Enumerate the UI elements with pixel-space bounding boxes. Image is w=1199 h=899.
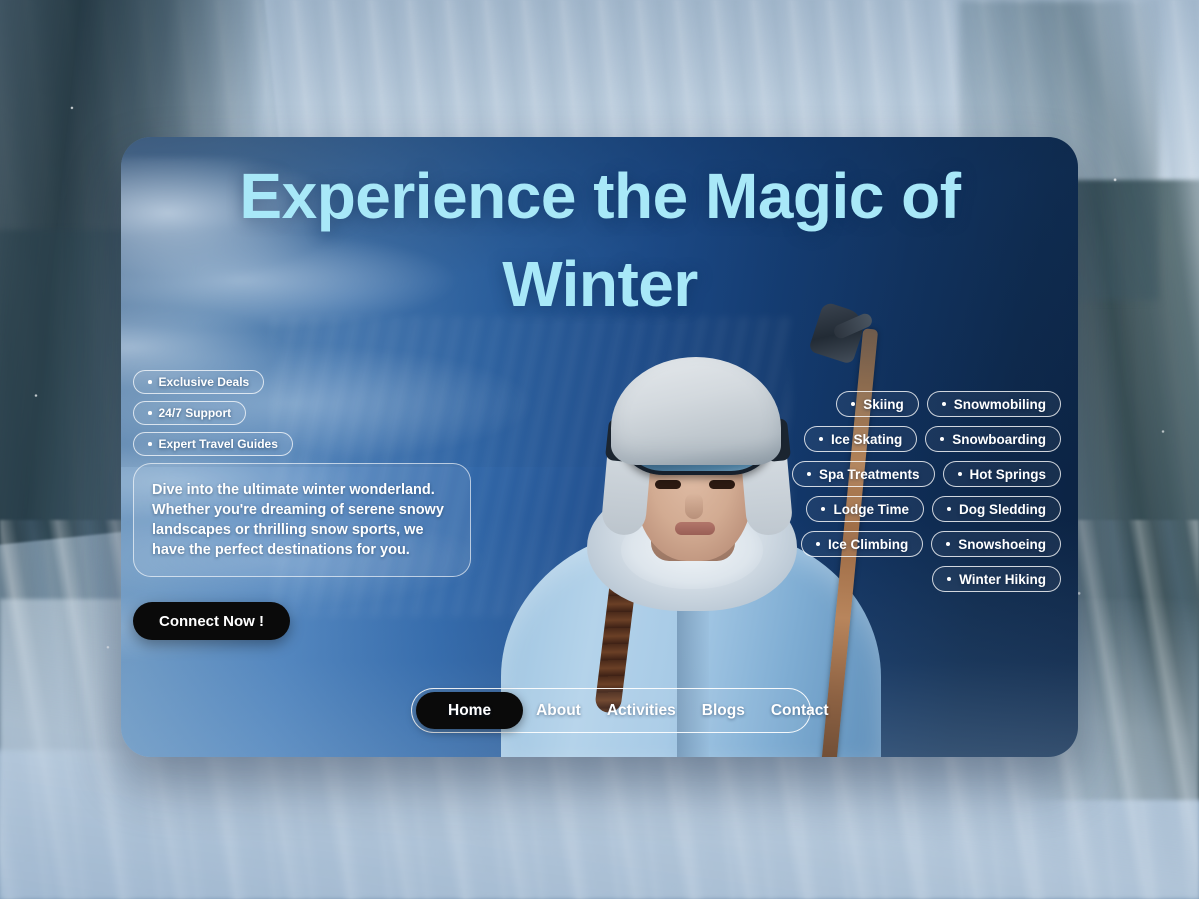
activity-chip-label: Skiing [863, 397, 904, 412]
activity-chip-label: Snowmobiling [954, 397, 1046, 412]
model-eye-left [655, 480, 681, 489]
activity-chip-label: Snowboarding [952, 432, 1046, 447]
bullet-dot-icon [148, 411, 152, 415]
activity-chip-spa-treatments[interactable]: Spa Treatments [792, 461, 935, 487]
feature-badge-list: Exclusive Deals 24/7 Support Expert Trav… [133, 370, 293, 456]
feature-badge-label: Expert Travel Guides [159, 437, 278, 451]
nav-item-blogs[interactable]: Blogs [689, 692, 758, 729]
bullet-dot-icon [821, 507, 825, 511]
nav-item-home[interactable]: Home [416, 692, 523, 729]
feature-badge-exclusive-deals[interactable]: Exclusive Deals [133, 370, 264, 394]
model-eye-right [709, 480, 735, 489]
activity-chip-label: Lodge Time [833, 502, 909, 517]
bullet-dot-icon [148, 380, 152, 384]
bullet-dot-icon [940, 437, 944, 441]
model-nose [685, 493, 703, 519]
model-lips [675, 522, 715, 535]
activity-chip-hot-springs[interactable]: Hot Springs [943, 461, 1062, 487]
bullet-dot-icon [946, 542, 950, 546]
activity-chip-label: Dog Sledding [959, 502, 1046, 517]
hero-description-text: Dive into the ultimate winter wonderland… [152, 482, 444, 558]
feature-badge-label: 24/7 Support [159, 406, 232, 420]
activity-chip-ice-climbing[interactable]: Ice Climbing [801, 531, 923, 557]
activity-chip-lodge-time[interactable]: Lodge Time [806, 496, 924, 522]
feature-badge-label: Exclusive Deals [159, 375, 250, 389]
activity-chip-label: Spa Treatments [819, 467, 920, 482]
feature-badge-expert-travel-guides[interactable]: Expert Travel Guides [133, 432, 293, 456]
hero-description-card: Dive into the ultimate winter wonderland… [133, 463, 471, 577]
activity-chip-winter-hiking[interactable]: Winter Hiking [932, 566, 1061, 592]
activity-chip-label: Ice Climbing [828, 537, 908, 552]
activity-chip-list: Skiing Snowmobiling Ice Skating Snowboar… [761, 391, 1061, 592]
bullet-dot-icon [947, 577, 951, 581]
bullet-dot-icon [148, 442, 152, 446]
bullet-dot-icon [958, 472, 962, 476]
activity-chip-snowboarding[interactable]: Snowboarding [925, 426, 1061, 452]
bullet-dot-icon [807, 472, 811, 476]
activity-chip-label: Hot Springs [970, 467, 1047, 482]
activity-chip-dog-sledding[interactable]: Dog Sledding [932, 496, 1061, 522]
feature-badge-support[interactable]: 24/7 Support [133, 401, 246, 425]
nav-item-contact[interactable]: Contact [758, 692, 842, 729]
activity-chip-snowmobiling[interactable]: Snowmobiling [927, 391, 1061, 417]
activity-chip-label: Snowshoeing [958, 537, 1046, 552]
bullet-dot-icon [947, 507, 951, 511]
activity-chip-ice-skating[interactable]: Ice Skating [804, 426, 917, 452]
connect-now-button[interactable]: Connect Now ! [133, 602, 290, 640]
bullet-dot-icon [851, 402, 855, 406]
bullet-dot-icon [942, 402, 946, 406]
hero-card: Experience the Magic of Winter Exclusive… [121, 137, 1078, 757]
activity-chip-skiing[interactable]: Skiing [836, 391, 919, 417]
nav-item-about[interactable]: About [523, 692, 594, 729]
activity-chip-snowshoeing[interactable]: Snowshoeing [931, 531, 1061, 557]
main-navigation: Home About Activities Blogs Contact [411, 688, 811, 733]
page-title: Experience the Magic of Winter [181, 152, 1019, 328]
model-beanie [611, 357, 781, 465]
bullet-dot-icon [819, 437, 823, 441]
activity-chip-label: Ice Skating [831, 432, 902, 447]
nav-item-activities[interactable]: Activities [594, 692, 689, 729]
activity-chip-label: Winter Hiking [959, 572, 1046, 587]
bullet-dot-icon [816, 542, 820, 546]
